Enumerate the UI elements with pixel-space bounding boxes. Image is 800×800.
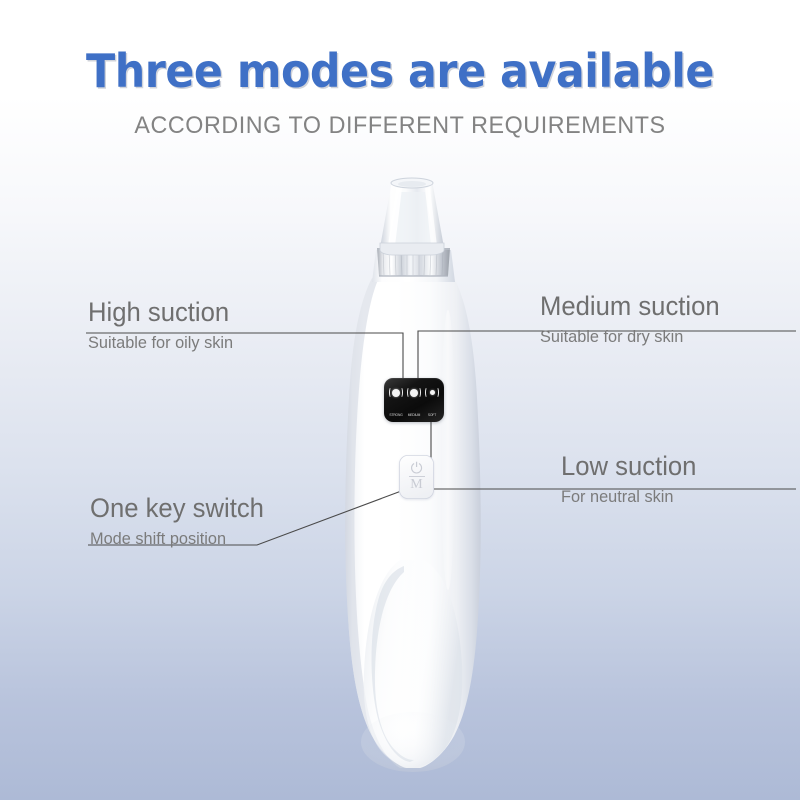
power-button[interactable]: ⏻ M xyxy=(399,455,434,499)
callout-low-suction-title: Low suction xyxy=(561,452,696,480)
page-title: Three modes are available xyxy=(28,44,772,98)
callout-low-suction: Low suction For neutral skin xyxy=(561,452,704,507)
mode-indicator-labels: STRONG MEDIUM SOFT xyxy=(384,414,444,417)
page-subtitle: ACCORDING TO DIFFERENT REQUIREMENTS xyxy=(12,112,788,140)
callout-medium-suction-title: Medium suction xyxy=(540,292,720,320)
suction-strong-icon[interactable] xyxy=(390,386,403,399)
suction-soft-icon[interactable] xyxy=(426,386,439,399)
nozzle-base-rim xyxy=(380,243,444,255)
callout-one-key-switch-title: One key switch xyxy=(90,494,264,522)
callout-one-key-switch-subtitle: Mode shift position xyxy=(90,529,266,549)
callout-high-suction: High suction Suitable for oily skin xyxy=(88,298,239,353)
nozzle-mouth-inner xyxy=(398,181,426,187)
callout-one-key-switch: One key switch Mode shift position xyxy=(90,494,273,549)
mode-label-soft: SOFT xyxy=(425,414,438,417)
body-highlight-secondary xyxy=(441,310,455,590)
suction-medium-icon[interactable] xyxy=(408,386,421,399)
callout-low-suction-subtitle: For neutral skin xyxy=(561,487,698,507)
mode-letter: M xyxy=(410,477,422,492)
base-shadow xyxy=(361,712,465,772)
infographic-canvas: STRONG MEDIUM SOFT ⏻ M Three modes are a… xyxy=(0,0,800,800)
mode-indicator-row xyxy=(384,386,444,399)
callout-medium-suction-subtitle: Suitable for dry skin xyxy=(540,327,722,347)
callout-high-suction-subtitle: Suitable for oily skin xyxy=(88,333,233,353)
mode-display-panel[interactable]: STRONG MEDIUM SOFT xyxy=(384,378,444,422)
callout-high-suction-title: High suction xyxy=(88,298,232,326)
mode-label-medium: MEDIUM xyxy=(407,414,420,417)
callout-medium-suction: Medium suction Suitable for dry skin xyxy=(540,292,729,347)
power-symbol-icon: ⏻ xyxy=(411,462,423,475)
mode-label-strong: STRONG xyxy=(389,414,402,417)
